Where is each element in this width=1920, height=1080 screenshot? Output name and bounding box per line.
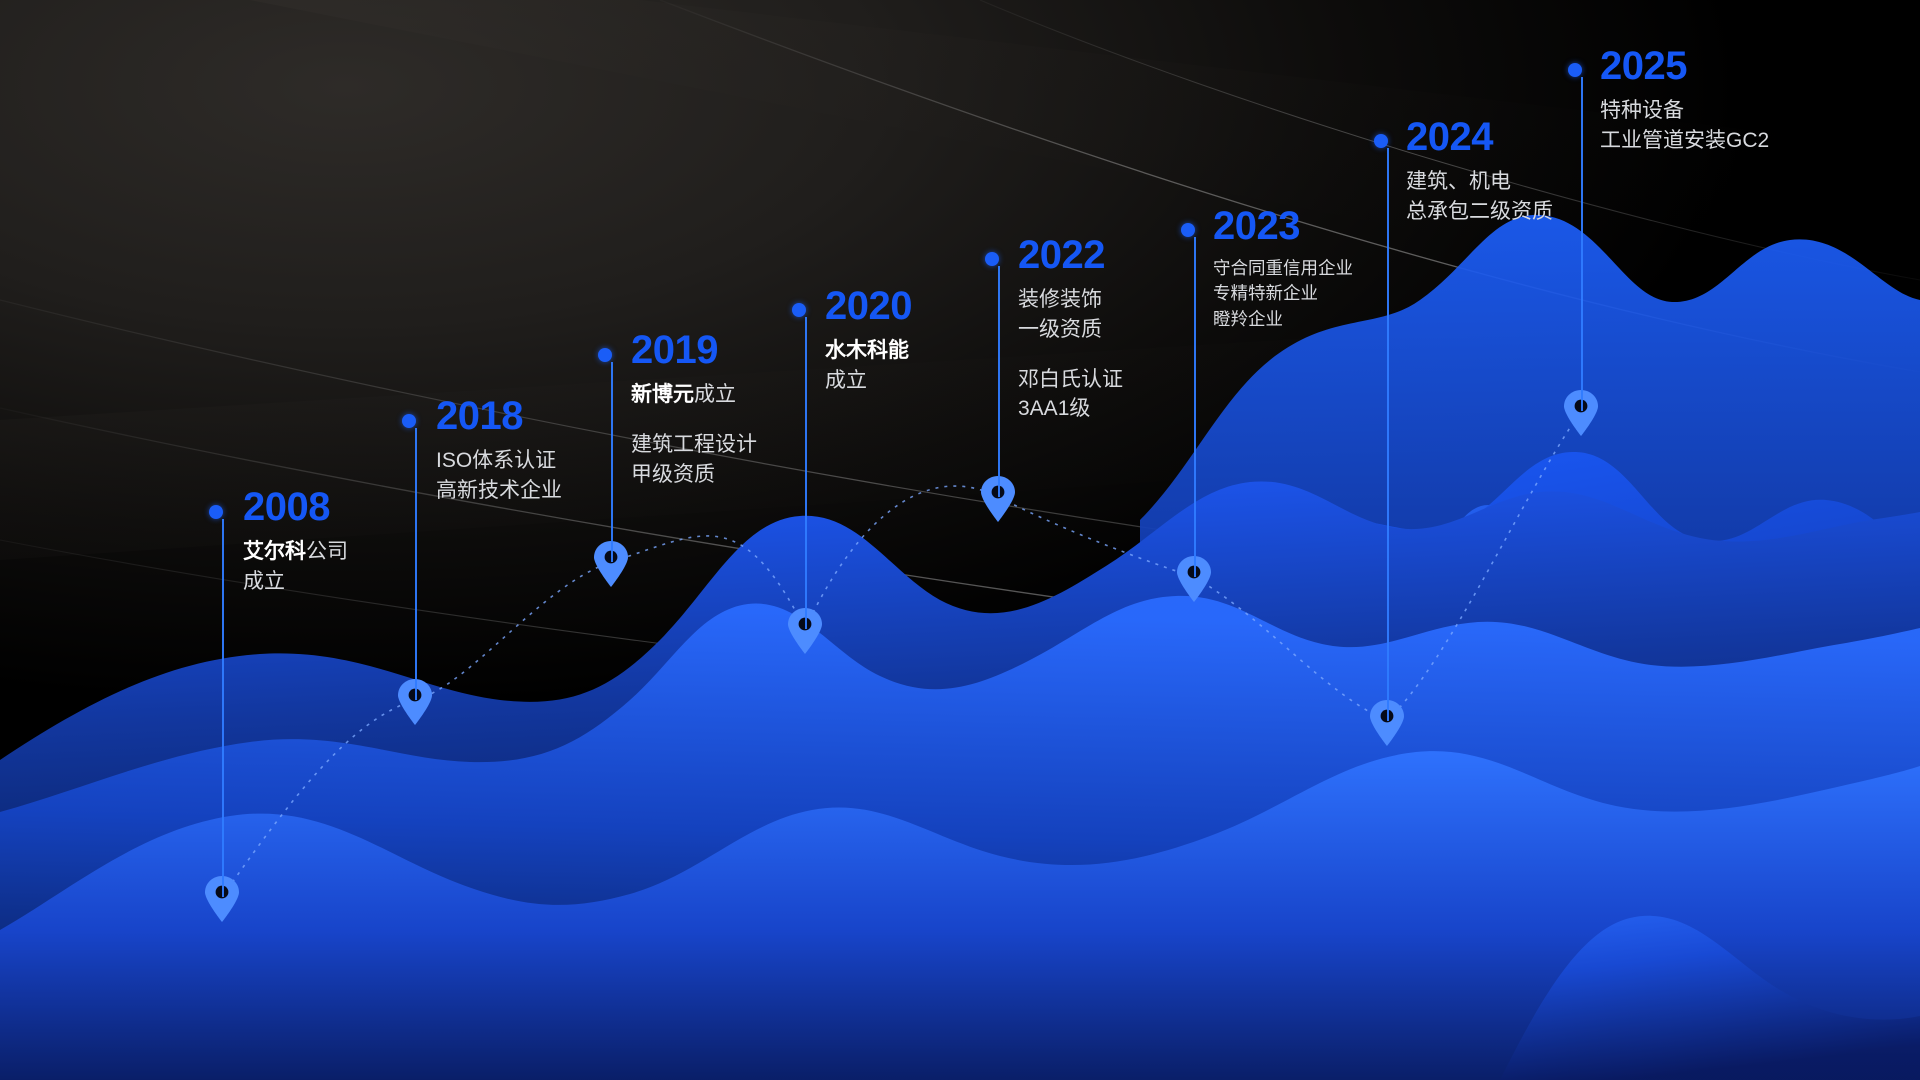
- milestone-desc-block: ISO体系认证高新技术企业: [436, 446, 562, 506]
- milestone-stem-2024: [1387, 148, 1389, 721]
- milestone-year-label: 2022: [1018, 235, 1123, 275]
- milestone-dot-2020: [792, 303, 806, 317]
- milestone-desc-line: 甲级资质: [631, 460, 757, 490]
- milestone-dot-2008: [209, 505, 223, 519]
- milestone-dot-2025: [1568, 63, 1582, 77]
- milestone-desc-line: 总承包二级资质: [1406, 197, 1553, 227]
- milestone-desc-block: 建筑工程设计甲级资质: [631, 430, 757, 490]
- milestone-desc-line: 特种设备: [1600, 96, 1769, 126]
- milestone-text-2023: 2023守合同重信用企业专精特新企业瞪羚企业: [1213, 206, 1353, 332]
- milestone-year-label: 2019: [631, 330, 757, 370]
- milestone-text-2018: 2018ISO体系认证高新技术企业: [436, 396, 562, 506]
- milestone-desc-block: 特种设备工业管道安装GC2: [1600, 96, 1769, 156]
- milestone-desc-line: 建筑、机电: [1406, 167, 1553, 197]
- milestone-stem-2023: [1194, 237, 1196, 577]
- milestone-year-label: 2008: [243, 487, 348, 527]
- milestone-text-2020: 2020水木科能成立: [825, 286, 912, 396]
- milestone-year-label: 2025: [1600, 46, 1769, 86]
- milestone-dot-2018: [402, 414, 416, 428]
- milestone-desc-block: 水木科能成立: [825, 336, 912, 396]
- milestone-text-2025: 2025特种设备工业管道安装GC2: [1600, 46, 1769, 156]
- milestone-stem-2025: [1581, 77, 1583, 411]
- milestone-desc-emphasis: 新博元: [631, 383, 694, 406]
- milestone-desc-line: 建筑工程设计: [631, 430, 757, 460]
- milestone-year-label: 2023: [1213, 206, 1353, 246]
- milestone-year-label: 2024: [1406, 117, 1553, 157]
- milestone-desc-block: 艾尔科公司成立: [243, 537, 348, 597]
- milestone-dot-2019: [598, 348, 612, 362]
- milestone-desc-block: 建筑、机电总承包二级资质: [1406, 167, 1553, 227]
- milestone-desc-line: 艾尔科公司: [243, 537, 348, 567]
- milestone-desc-rest: 公司: [306, 540, 348, 563]
- milestone-desc-line: 高新技术企业: [436, 476, 562, 506]
- milestone-stem-2019: [611, 362, 613, 562]
- milestone-desc-block: 装修装饰一级资质: [1018, 285, 1123, 345]
- milestone-dot-2024: [1374, 134, 1388, 148]
- milestone-stem-2020: [805, 317, 807, 629]
- milestone-desc-line: 邓白氏认证: [1018, 365, 1123, 395]
- milestone-desc-line: 工业管道安装GC2: [1600, 126, 1769, 156]
- milestone-dot-2023: [1181, 223, 1195, 237]
- milestone-text-2019: 2019新博元成立建筑工程设计甲级资质: [631, 330, 757, 489]
- milestone-text-2008: 2008艾尔科公司成立: [243, 487, 348, 597]
- milestone-stem-2022: [998, 266, 1000, 497]
- milestone-desc-line: 3AA1级: [1018, 394, 1123, 424]
- milestone-desc-line: 专精特新企业: [1213, 281, 1353, 306]
- milestone-desc-emphasis: 艾尔科: [243, 540, 306, 563]
- milestone-desc-line: 新博元成立: [631, 380, 757, 410]
- milestone-dot-2022: [985, 252, 999, 266]
- milestone-desc-line: ISO体系认证: [436, 446, 562, 476]
- milestone-desc-block: 邓白氏认证3AA1级: [1018, 365, 1123, 425]
- timeline-infographic: 2008艾尔科公司成立2018ISO体系认证高新技术企业2019新博元成立建筑工…: [0, 0, 1920, 1080]
- milestone-stem-2018: [415, 428, 417, 700]
- milestone-desc-line: 装修装饰: [1018, 285, 1123, 315]
- milestone-desc-line: 水木科能: [825, 336, 912, 366]
- milestone-desc-line: 成立: [243, 567, 348, 597]
- milestone-desc-rest: 成立: [694, 383, 736, 406]
- milestone-desc-line: 瞪羚企业: [1213, 307, 1353, 332]
- milestone-desc-line: 一级资质: [1018, 315, 1123, 345]
- milestone-stem-2008: [222, 519, 224, 897]
- milestone-desc-block: 新博元成立: [631, 380, 757, 410]
- milestone-text-2024: 2024建筑、机电总承包二级资质: [1406, 117, 1553, 227]
- milestone-year-label: 2018: [436, 396, 562, 436]
- milestone-year-label: 2020: [825, 286, 912, 326]
- milestone-desc-line: 守合同重信用企业: [1213, 256, 1353, 281]
- milestone-desc-block: 守合同重信用企业专精特新企业瞪羚企业: [1213, 256, 1353, 332]
- milestone-desc-line: 成立: [825, 366, 912, 396]
- milestone-text-2022: 2022装修装饰一级资质邓白氏认证3AA1级: [1018, 235, 1123, 424]
